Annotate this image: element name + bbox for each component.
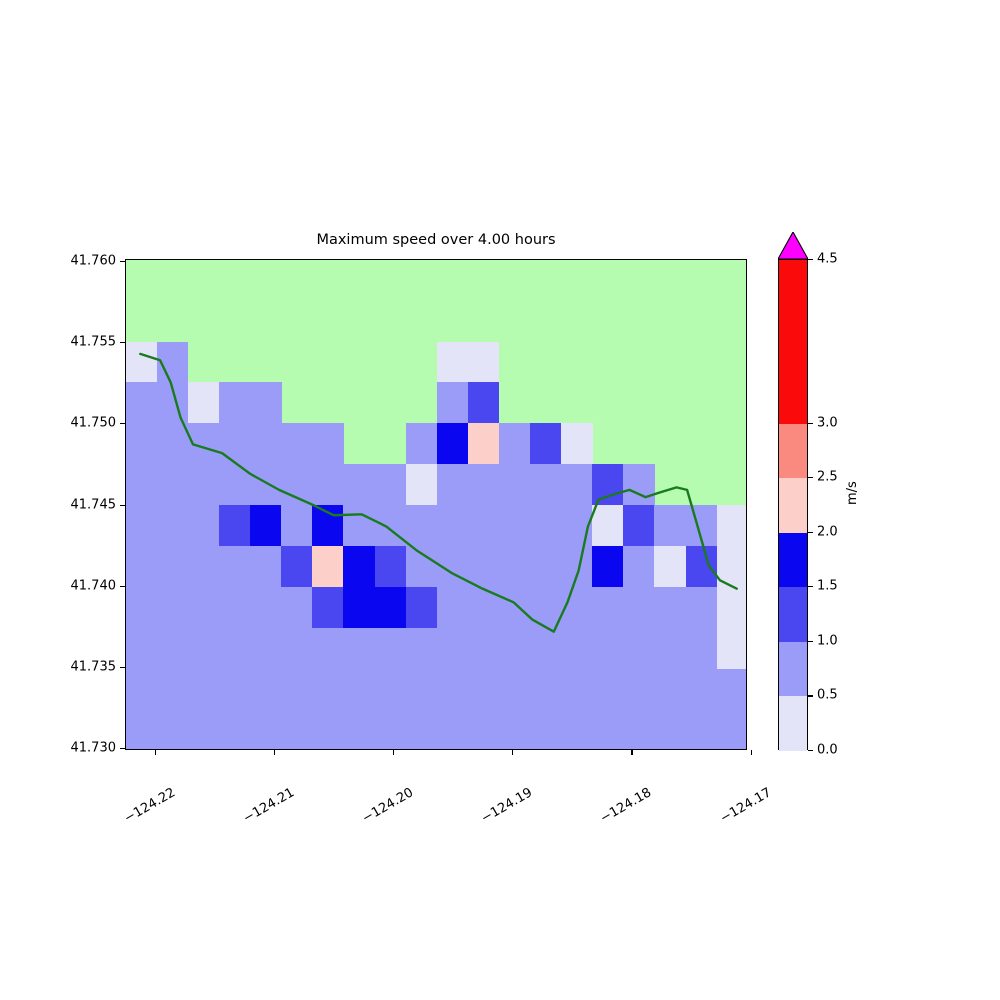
colorbar-band [779, 696, 807, 751]
colorbar-tick-label: 0.5 [817, 688, 838, 703]
colorbar-tick-mark [808, 423, 813, 424]
colorbar-tick-mark [808, 586, 813, 587]
colorbar-band [779, 587, 807, 642]
colorbar[interactable] [778, 259, 808, 750]
colorbar-tick-mark [808, 259, 813, 260]
y-tick-label: 41.740 [0, 578, 125, 593]
colorbar-tick-label: 3.0 [817, 415, 838, 430]
figure-canvas: Maximum speed over 4.00 hours 41.73041.7… [0, 0, 1000, 1000]
x-tick-mark [512, 750, 513, 755]
colorbar-tick-mark [808, 750, 813, 751]
x-tick-mark [155, 750, 156, 755]
y-tick-label: 41.730 [0, 741, 125, 756]
x-tick-label: −124.20 [360, 785, 416, 826]
colorbar-tick-label: 2.0 [817, 524, 838, 539]
page-title: Maximum speed over 4.00 hours [125, 232, 747, 248]
y-tick-label: 41.755 [0, 334, 125, 349]
colorbar-tick-label: 1.5 [817, 579, 838, 594]
coastline-overlay [126, 260, 746, 749]
x-tick-mark [751, 750, 752, 755]
y-tick-label: 41.735 [0, 660, 125, 675]
x-tick-label: −124.22 [122, 785, 178, 826]
x-tick-label: −124.21 [241, 785, 297, 826]
x-tick-mark [393, 750, 394, 755]
colorbar-tick-mark [808, 532, 813, 533]
colorbar-tick-mark [808, 641, 813, 642]
colorbar-tick-label: 1.0 [817, 633, 838, 648]
colorbar-band [779, 260, 807, 424]
colorbar-band [779, 424, 807, 479]
colorbar-tick-label: 2.5 [817, 470, 838, 485]
coastline-path [140, 354, 736, 632]
x-tick-label: −124.17 [717, 785, 773, 826]
x-tick-mark [274, 750, 275, 755]
heatmap-axes[interactable] [125, 259, 747, 750]
colorbar-tick-label: 0.0 [817, 743, 838, 758]
y-tick-label: 41.750 [0, 416, 125, 431]
y-tick-label: 41.760 [0, 253, 125, 268]
colorbar-tick-mark [808, 695, 813, 696]
x-tick-label: −124.19 [479, 785, 535, 826]
colorbar-over-arrow [778, 232, 808, 259]
colorbar-band [779, 478, 807, 533]
y-tick-label: 41.745 [0, 497, 125, 512]
colorbar-band [779, 533, 807, 588]
colorbar-band [779, 642, 807, 697]
colorbar-tick-mark [808, 477, 813, 478]
colorbar-tick-label: 4.5 [817, 252, 838, 267]
x-tick-mark [631, 750, 632, 755]
colorbar-unit-label: m/s [845, 481, 860, 505]
x-tick-label: −124.18 [598, 785, 654, 826]
